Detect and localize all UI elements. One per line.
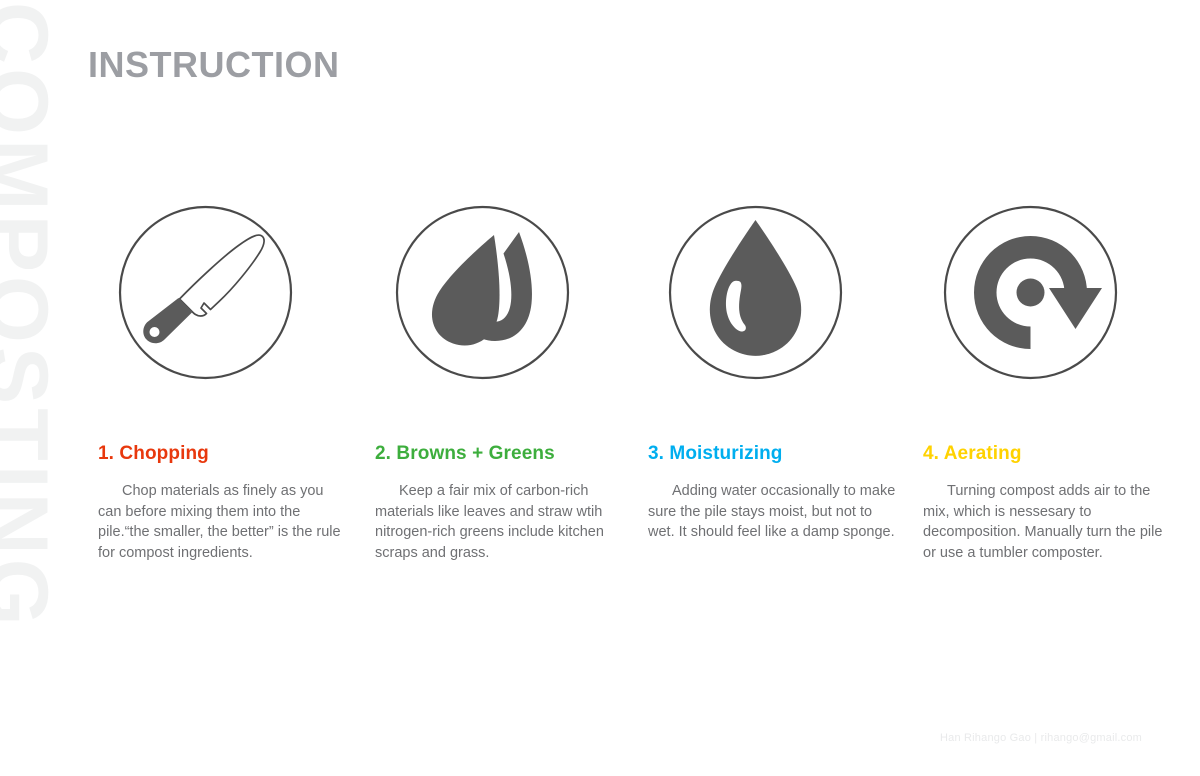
page-title: INSTRUCTION bbox=[88, 44, 340, 86]
step-card-browns-greens: 2. Browns + Greens Keep a fair mix of ca… bbox=[345, 205, 620, 380]
step-heading-moisturizing: 3. Moisturizing bbox=[648, 443, 783, 465]
step-card-aerating: 4. Aerating Turning compost adds air to … bbox=[893, 205, 1168, 380]
footer-credit: Han Rihango Gao | rihango@gmail.com bbox=[940, 732, 1142, 744]
chefs-knife-icon bbox=[118, 205, 293, 380]
step-heading-browns-greens: 2. Browns + Greens bbox=[375, 443, 555, 465]
step-heading-chopping: 1. Chopping bbox=[98, 443, 209, 465]
step-body-moisturizing: Adding water occasionally to make sure t… bbox=[648, 481, 900, 543]
step-body-chopping: Chop materials as finely as you can befo… bbox=[98, 481, 350, 563]
step-body-browns-greens: Keep a fair mix of carbon-rich materials… bbox=[375, 481, 627, 563]
step-card-chopping: 1. Chopping Chop materials as finely as … bbox=[68, 205, 343, 380]
two-leaves-icon bbox=[395, 205, 570, 380]
steps-row: 1. Chopping Chop materials as finely as … bbox=[0, 205, 1200, 625]
step-heading-aerating: 4. Aerating bbox=[923, 443, 1022, 465]
icon-badge-aerating bbox=[943, 205, 1118, 380]
icon-badge-moisturizing bbox=[668, 205, 843, 380]
icon-badge-chopping bbox=[118, 205, 293, 380]
water-droplet-icon bbox=[668, 205, 843, 380]
circular-rotate-arrow-icon bbox=[943, 205, 1118, 380]
slide-canvas: COMPOSTING INSTRUCTION 1. Chopping Chop … bbox=[0, 0, 1200, 776]
step-card-moisturizing: 3. Moisturizing Adding water occasionall… bbox=[618, 205, 893, 380]
icon-badge-browns-greens bbox=[395, 205, 570, 380]
step-body-aerating: Turning compost adds air to the mix, whi… bbox=[923, 481, 1175, 563]
